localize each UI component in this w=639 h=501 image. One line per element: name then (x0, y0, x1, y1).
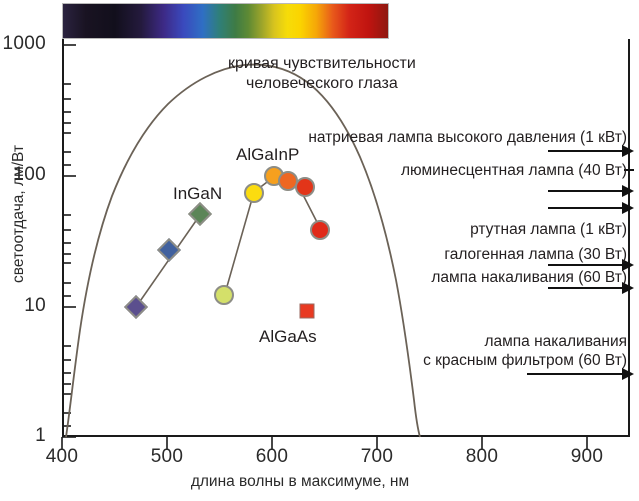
visible-spectrum-bar (62, 3, 389, 39)
plot-right-border (628, 39, 630, 437)
x-tick-400: 400 (32, 446, 92, 468)
marker-circle (310, 220, 330, 240)
lamp-label-sodium: натриевая лампа высокого давления (1 кВт… (308, 128, 627, 147)
x-tick-900: 900 (557, 446, 617, 468)
marker-circle (214, 285, 234, 305)
data-point-ingan-violet[interactable] (128, 299, 145, 316)
eye-curve-label-line2: человеческого глаза (228, 74, 416, 94)
lamp-label-mercury: ртутная лампа (1 кВт) (470, 220, 627, 239)
lamp-label-halogen: галогенная лампа (30 Вт) (444, 245, 627, 264)
lamp-label-incandescent-red-line2: с красным фильтром (60 Вт) (423, 351, 627, 370)
eye-curve-label-line1: кривая чувствительности (228, 54, 416, 74)
data-point-algaas[interactable] (300, 304, 315, 319)
data-point-algainp-yellowgreen[interactable] (214, 285, 234, 305)
lamp-label-fluorescent: люминесцентная лампа (40 Вт) (401, 161, 627, 180)
x-tick-700: 700 (347, 446, 407, 468)
lamp-label-incandescent: лампа накаливания (60 Вт) (431, 268, 627, 287)
x-tick-500: 500 (137, 446, 197, 468)
lamp-label-incandescent-red-line1: лампа накаливания (423, 332, 627, 351)
y-tick-1000: 1000 (0, 33, 46, 55)
marker-circle (244, 183, 264, 203)
y-tick-1: 1 (0, 425, 46, 447)
lamp-label-incandescent-red: лампа накаливания с красным фильтром (60… (423, 332, 627, 370)
series-label-ingan: InGaN (173, 184, 222, 204)
marker-diamond (157, 238, 181, 262)
data-point-algainp-deepred[interactable] (310, 220, 330, 240)
eye-curve-label: кривая чувствительности человеческого гл… (228, 54, 416, 94)
x-tick-800: 800 (452, 446, 512, 468)
data-point-algainp-yellow[interactable] (244, 183, 264, 203)
chart-root: 1000 100 10 1 400 500 600 700 800 900 св… (0, 0, 639, 501)
data-point-ingan-blue[interactable] (161, 242, 178, 259)
marker-square (300, 304, 315, 319)
marker-circle (295, 177, 315, 197)
data-point-algainp-red[interactable] (295, 177, 315, 197)
marker-diamond (188, 202, 212, 226)
x-axis-title: длина волны в максимуме, нм (110, 473, 490, 491)
y-axis-title: светоотдача, лм/Вт (10, 99, 28, 329)
data-point-ingan-green[interactable] (192, 206, 209, 223)
series-label-algainp: AlGaInP (236, 145, 299, 165)
x-tick-600: 600 (242, 446, 302, 468)
marker-diamond (124, 295, 148, 319)
series-label-algaas: AlGaAs (259, 327, 317, 347)
